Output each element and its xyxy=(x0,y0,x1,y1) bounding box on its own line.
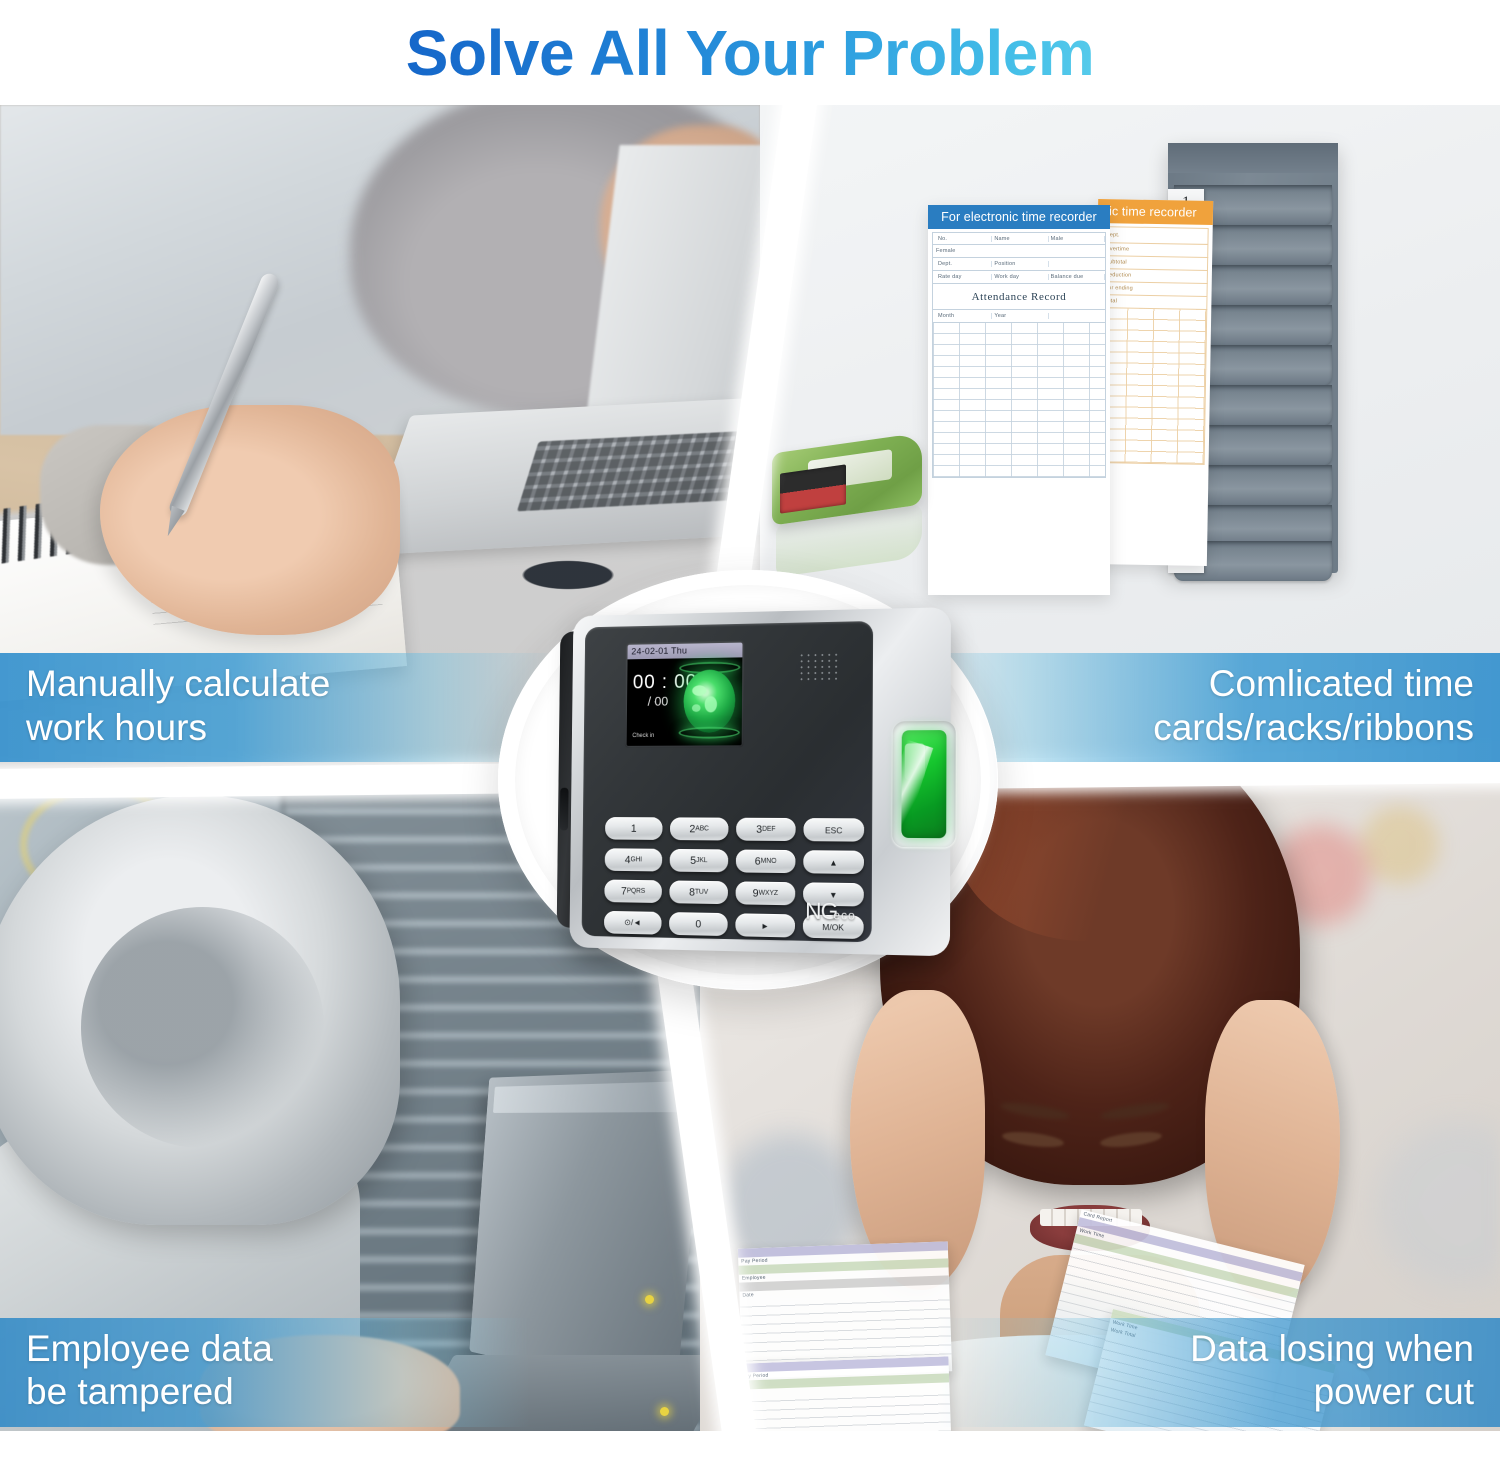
caption-line-1: Manually calculate xyxy=(26,662,534,706)
device-chrome-bezel: 24-02-01 Thu 00 : 00 / 00 Check in xyxy=(569,607,951,956)
key-3[interactable]: 3DEF xyxy=(736,818,796,841)
key-digit: 0 xyxy=(695,918,701,930)
page-title: Solve All Your Problem xyxy=(406,16,1094,90)
key-digit: ► xyxy=(761,920,769,930)
key-letters: JKL xyxy=(696,857,707,864)
key-digit: 1 xyxy=(631,823,637,835)
time-card-cell: Rate day xyxy=(936,274,992,280)
time-card-orange: nic time recorder Dept. Overtime Subtota… xyxy=(1092,199,1213,566)
payroll-report-sheet: Pay Period IN xyxy=(738,1356,951,1431)
time-card-header: For electronic time recorder xyxy=(928,205,1110,229)
status-led xyxy=(645,1295,654,1304)
time-card-row: Dept. Position xyxy=(932,258,1106,271)
time-card-header: nic time recorder xyxy=(1098,199,1213,225)
globe-icon xyxy=(683,669,735,733)
time-card-cell: Year xyxy=(992,313,1048,319)
time-card-grid xyxy=(932,323,1106,478)
ink-ribbon-cartridge xyxy=(772,443,922,543)
product-feature-image: Solve All Your Problem Manually calculat… xyxy=(0,0,1500,1431)
product-spotlight: 24-02-01 Thu 00 : 00 / 00 Check in xyxy=(498,570,998,990)
caption-line-1: Comlicated time xyxy=(916,662,1474,706)
time-card-cell: Name xyxy=(992,236,1048,242)
time-card-cell: Position xyxy=(992,261,1048,267)
time-card-row: Dept. xyxy=(1101,226,1208,245)
caption-line-2: work hours xyxy=(26,706,534,750)
key-digit: ⊙/◄ xyxy=(624,917,641,928)
caption-line-2: be tampered xyxy=(26,1370,504,1414)
screen-body: 00 : 00 / 00 Check in xyxy=(627,657,743,746)
time-card-cell: Dept. xyxy=(936,261,992,267)
key-power-back-icon[interactable]: ⊙/◄ xyxy=(604,911,662,935)
screen-clock-seconds: / 00 xyxy=(648,694,669,709)
key-5[interactable]: 5JKL xyxy=(670,849,729,872)
key-digit: ▲ xyxy=(829,857,837,867)
key-letters: DEF xyxy=(762,826,775,833)
time-card-cell: Month xyxy=(936,313,992,319)
key-right-arrow-icon[interactable]: ► xyxy=(735,913,795,937)
time-card-row: Female xyxy=(932,245,1106,258)
time-clock-device: 24-02-01 Thu 00 : 00 / 00 Check in xyxy=(569,607,951,956)
device-screen-bezel: 24-02-01 Thu 00 : 00 / 00 Check in xyxy=(625,641,745,748)
speaker-grille-icon xyxy=(799,652,841,681)
report-rows xyxy=(740,1390,952,1431)
key-7[interactable]: 7PQRS xyxy=(604,880,662,903)
device-front-face: 24-02-01 Thu 00 : 00 / 00 Check in xyxy=(582,621,874,942)
caption-line-2: power cut xyxy=(966,1370,1474,1414)
report-rows xyxy=(740,1292,952,1361)
fingerprint-reader[interactable] xyxy=(892,721,956,848)
key-letters: TUV xyxy=(695,889,708,896)
headline-banner: Solve All Your Problem xyxy=(0,0,1500,105)
status-led xyxy=(660,1407,669,1416)
brand-logo-eco: eco xyxy=(833,908,855,923)
caption-line-2: cards/racks/ribbons xyxy=(916,706,1474,750)
time-card-rows: No. Name Male Female Dept. Position Rate… xyxy=(928,229,1110,481)
key-6[interactable]: 6MNO xyxy=(736,850,796,874)
hoodie-hood xyxy=(0,795,400,1225)
time-card-grid xyxy=(1098,308,1208,465)
time-card-rows: Dept. Overtime Subtotal Deduction For en… xyxy=(1094,223,1213,468)
caption-manual-hours: Manually calculate work hours xyxy=(0,653,560,762)
caption-line-1: Data losing when xyxy=(966,1327,1474,1371)
key-4[interactable]: 4GHI xyxy=(605,848,663,871)
time-card-blue: For electronic time recorder No. Name Ma… xyxy=(928,205,1110,595)
key-2[interactable]: 2ABC xyxy=(670,817,729,840)
device-usb-port xyxy=(560,788,569,831)
globe-orbit-ring xyxy=(679,727,740,739)
key-8[interactable]: 8TUV xyxy=(669,880,728,904)
time-card-row: Rate day Work day Balance due xyxy=(932,271,1106,284)
key-letters: PQRS xyxy=(627,888,645,895)
time-card-row: No. Name Male xyxy=(932,232,1106,245)
key-0[interactable]: 0 xyxy=(669,912,728,936)
caption-data-loss: Data losing when power cut xyxy=(940,1318,1500,1427)
key-9[interactable]: 9WXYZ xyxy=(736,881,796,905)
key-letters: GHI xyxy=(630,856,642,863)
time-card-cell: Male xyxy=(1049,236,1105,242)
key-digit: ESC xyxy=(825,825,842,835)
screen-status-label: Check in xyxy=(632,733,654,739)
key-letters: WXYZ xyxy=(759,890,778,897)
rack-top-panel xyxy=(1168,143,1338,173)
caption-line-1: Employee data xyxy=(26,1327,504,1371)
caption-data-tampered: Employee data be tampered xyxy=(0,1318,530,1427)
brand-logo: NG eco xyxy=(805,897,856,925)
attendance-record-title: Attendance Record xyxy=(932,284,1106,310)
device-screen: 24-02-01 Thu 00 : 00 / 00 Check in xyxy=(627,643,743,746)
key-esc[interactable]: ESC xyxy=(803,818,864,842)
time-card-cell: No. xyxy=(936,236,992,242)
key-letters: MNO xyxy=(761,858,777,865)
time-card-cell: Balance due xyxy=(1049,274,1105,280)
laptop-keyboard xyxy=(517,429,760,512)
key-1[interactable]: 1 xyxy=(605,817,663,840)
key-letters: ABC xyxy=(695,825,709,832)
time-card-cell: Work day xyxy=(992,274,1048,280)
time-card-row: Month Year xyxy=(932,310,1106,323)
fingerprint-sensor-icon[interactable] xyxy=(901,730,946,838)
key-up-arrow-icon[interactable]: ▲ xyxy=(803,850,864,874)
